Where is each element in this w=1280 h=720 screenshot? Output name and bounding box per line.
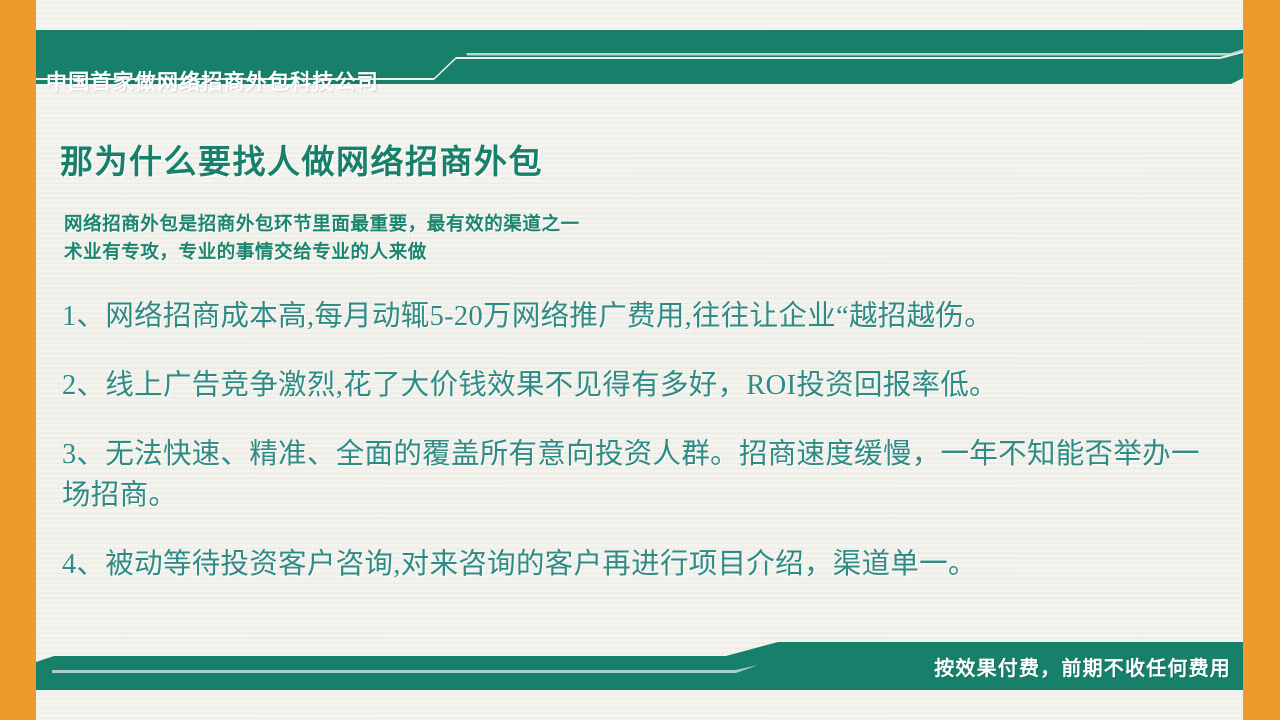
body-paragraph-4: 4、被动等待投资客户咨询,对来咨询的客户再进行项目介绍，渠道单一。: [62, 544, 1212, 585]
body-content: 1、网络招商成本高,每月动辄5-20万网络推广费用,往往让企业“越招越伤。 2、…: [62, 296, 1212, 585]
slide-canvas: 中国首家做网络招商外包科技公司 那为什么要找人做网络招商外包 网络招商外包是招商…: [0, 0, 1280, 720]
header-banner: 中国首家做网络招商外包科技公司: [36, 30, 1243, 86]
subtitle-line-1: 网络招商外包是招商外包环节里面最重要，最有效的渠道之一: [64, 210, 580, 238]
header-banner-label: 中国首家做网络招商外包科技公司: [46, 66, 546, 96]
footer-banner-label: 按效果付费，前期不收任何费用: [934, 652, 1231, 681]
body-paragraph-3: 3、无法快速、精准、全面的覆盖所有意向投资人群。招商速度缓慢，一年不知能否举办一…: [62, 434, 1212, 516]
subtitle-line-2: 术业有专攻，专业的事情交给专业的人来做: [64, 238, 580, 266]
footer-banner: 按效果付费，前期不收任何费用: [36, 640, 1243, 690]
page-subtitle: 网络招商外包是招商外包环节里面最重要，最有效的渠道之一 术业有专攻，专业的事情交…: [64, 210, 580, 266]
body-paragraph-1: 1、网络招商成本高,每月动辄5-20万网络推广费用,往往让企业“越招越伤。: [62, 296, 1212, 337]
page-title: 那为什么要找人做网络招商外包: [60, 135, 543, 183]
body-paragraph-2: 2、线上广告竞争激烈,花了大价钱效果不见得有多好，ROI投资回报率低。: [62, 365, 1212, 406]
